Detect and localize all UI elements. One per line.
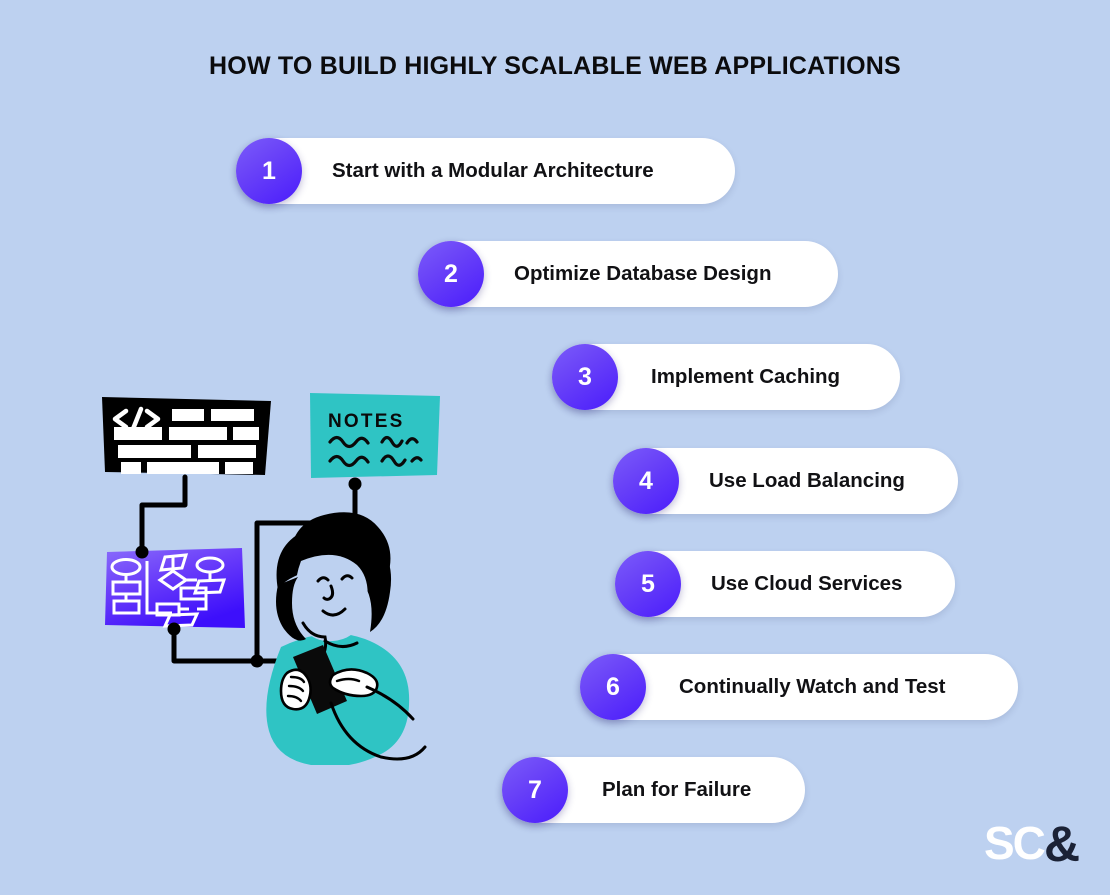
person-hand-holding bbox=[281, 670, 311, 709]
step-item[interactable]: 7 Plan for Failure bbox=[502, 757, 805, 823]
step-number-badge: 7 bbox=[502, 757, 568, 823]
step-item[interactable]: 4 Use Load Balancing bbox=[613, 448, 958, 514]
connector-dot-flowchart-top bbox=[136, 546, 149, 559]
sticky-notes-panel: NOTES bbox=[310, 393, 440, 478]
step-number-badge: 5 bbox=[615, 551, 681, 617]
step-number-badge: 2 bbox=[418, 241, 484, 307]
step-number-badge: 6 bbox=[580, 654, 646, 720]
logo-primary-text: SC bbox=[984, 817, 1045, 869]
step-number-badge: 4 bbox=[613, 448, 679, 514]
step-label: Plan for Failure bbox=[602, 757, 751, 823]
person-with-phone bbox=[266, 512, 425, 765]
step-number-badge: 3 bbox=[552, 344, 618, 410]
code-editor-panel bbox=[102, 397, 271, 475]
step-label: Optimize Database Design bbox=[514, 241, 771, 307]
page-title: HOW TO BUILD HIGHLY SCALABLE WEB APPLICA… bbox=[0, 52, 1110, 81]
connector-dot-flowchart-bottom bbox=[168, 623, 181, 636]
step-label: Use Load Balancing bbox=[709, 448, 905, 514]
step-item[interactable]: 1 Start with a Modular Architecture bbox=[236, 138, 735, 204]
hero-illustration: NOTES bbox=[85, 385, 485, 765]
step-label: Implement Caching bbox=[651, 344, 840, 410]
infographic-canvas: HOW TO BUILD HIGHLY SCALABLE WEB APPLICA… bbox=[0, 0, 1110, 895]
connector-dot-notes bbox=[349, 478, 362, 491]
logo-accent-text: & bbox=[1044, 816, 1080, 872]
step-item[interactable]: 6 Continually Watch and Test bbox=[580, 654, 1018, 720]
step-item[interactable]: 2 Optimize Database Design bbox=[418, 241, 838, 307]
step-label: Continually Watch and Test bbox=[679, 654, 946, 720]
connector-dot-phone-junction bbox=[251, 655, 264, 668]
step-label: Start with a Modular Architecture bbox=[332, 138, 654, 204]
flowchart-diagram-panel bbox=[105, 548, 245, 628]
brand-logo: SC & bbox=[984, 815, 1094, 873]
step-item[interactable]: 5 Use Cloud Services bbox=[615, 551, 955, 617]
notes-heading: NOTES bbox=[328, 411, 404, 432]
step-item[interactable]: 3 Implement Caching bbox=[552, 344, 900, 410]
step-label: Use Cloud Services bbox=[711, 551, 902, 617]
step-number-badge: 1 bbox=[236, 138, 302, 204]
